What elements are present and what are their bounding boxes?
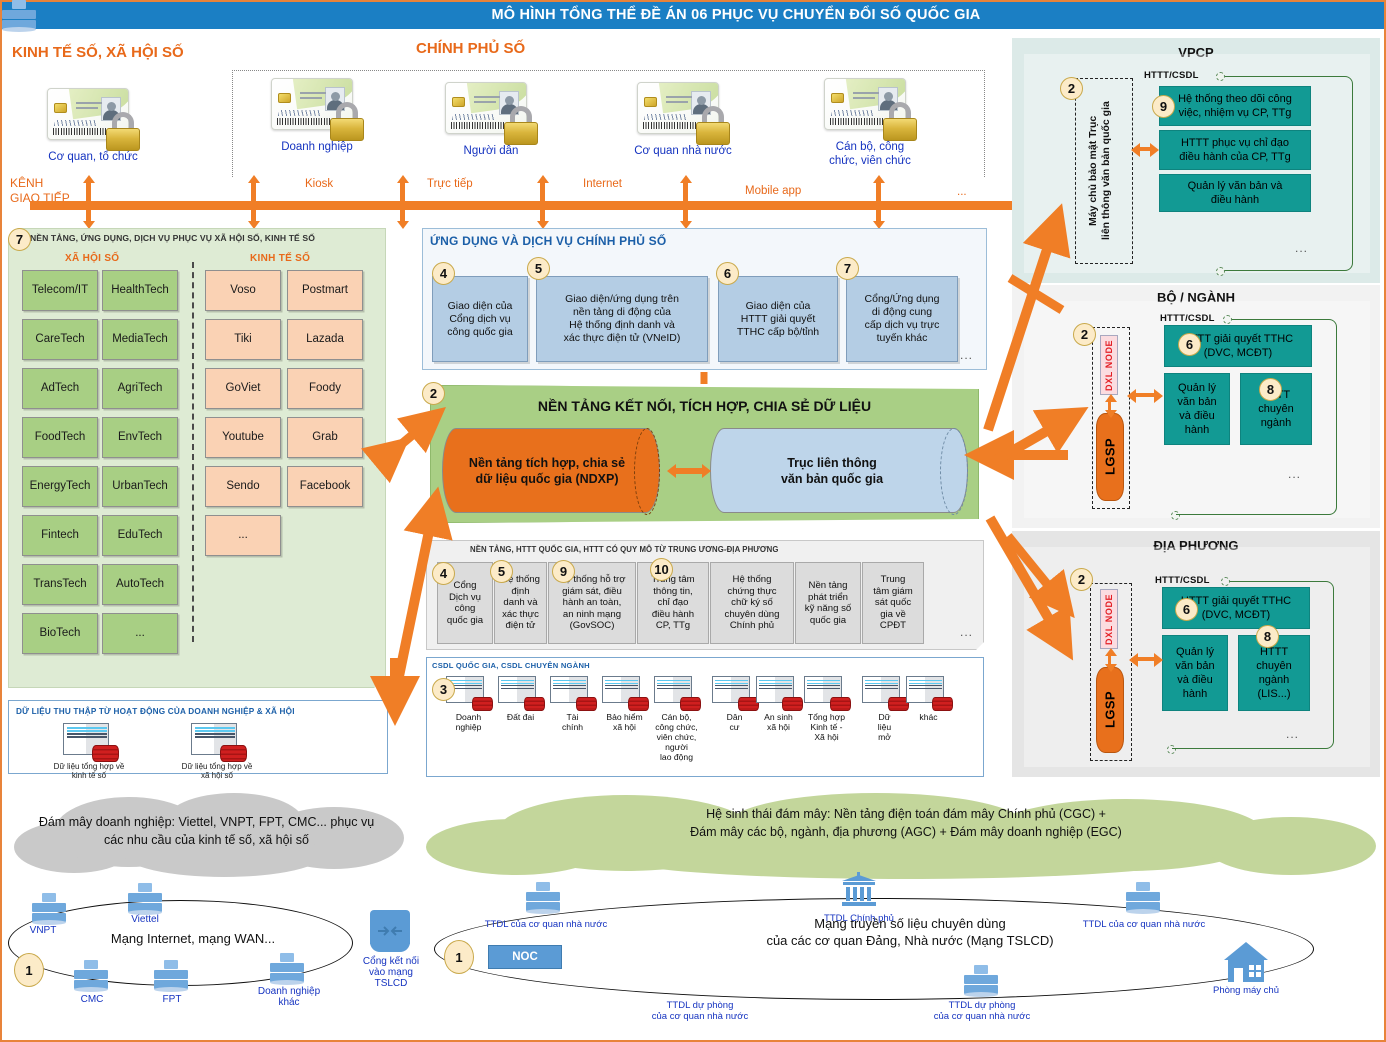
national-platforms-ellipsis: ... <box>960 625 973 639</box>
badge-7-left: 7 <box>8 228 31 251</box>
dia-phuong-path-bottom <box>1172 748 1229 750</box>
vpcp-httt-label: HTTT/CSDL <box>1144 70 1199 81</box>
economy-tech-box[interactable]: Lazada <box>287 319 363 360</box>
economy-tech-box[interactable]: Facebook <box>287 466 363 507</box>
channel-arrow-2 <box>251 182 256 222</box>
channel-arrow-1 <box>86 182 91 222</box>
actor-co-quan-to-chuc: Cơ quan, tổ chức <box>28 88 158 164</box>
badge-4-gov-app: 4 <box>432 262 455 285</box>
government-datacenter-icon <box>838 872 878 906</box>
actor-label: Cơ quan, tổ chức <box>28 150 158 164</box>
actor-label: Cán bộ, công chức, viên chức <box>800 140 940 168</box>
server-room-icon <box>1222 940 1268 980</box>
vpcp-ellipsis: ... <box>1295 241 1308 255</box>
dia-phuong-panel: ĐỊA PHƯƠNG HTTT/CSDL DXL NODE LGSP HTTT … <box>1012 531 1380 777</box>
channel-label-internet: Internet <box>583 178 622 190</box>
page-title: MÔ HÌNH TỔNG THỂ ĐỀ ÁN 06 PHỤC VỤ CHUYỂN… <box>88 2 1384 29</box>
vpcp-path-start-node <box>1216 72 1225 81</box>
social-tech-box[interactable]: BioTech <box>22 613 98 654</box>
csdl-item[interactable]: Bảo hiểm xã hội <box>598 676 651 732</box>
channel-arrow-3 <box>400 182 405 222</box>
national-platform-box[interactable]: Trung tâm giám sát quốc gia về CPĐT <box>862 562 924 644</box>
csdl-item-label: Cán bộ, công chức, viên chức, người lao … <box>650 712 703 762</box>
column-divider <box>192 262 194 642</box>
national-platform-box[interactable]: Hệ thống chứng thực chữ ký số chuyên dùn… <box>710 562 794 644</box>
ndxp-cylinder: Nền tảng tích hợp, chia sẻ dữ liệu quốc … <box>442 428 660 513</box>
dxl-node-bo-nganh: DXL NODE <box>1100 335 1118 395</box>
csdl-item[interactable]: Tổng hợp Kinh tế - Xã hội <box>800 676 853 742</box>
gov-app-box-5[interactable]: Giao diện/ứng dụng trên nền tảng di động… <box>536 276 708 362</box>
badge-2-bo-nganh: 2 <box>1073 323 1096 346</box>
bo-nganh-httt-label: HTTT/CSDL <box>1160 313 1215 324</box>
badge-9-vpcp: 9 <box>1152 95 1175 118</box>
data-item-kinh-te: Dữ liệu tổng hợp về kinh tế số <box>51 723 127 780</box>
vpcp-path-end-node <box>1216 267 1225 276</box>
channel-arrow-5 <box>683 182 688 222</box>
server-icon-agency-left <box>524 882 562 912</box>
economy-tech-box[interactable]: Postmart <box>287 270 363 311</box>
social-tech-box[interactable]: TransTech <box>22 564 98 605</box>
padlock-icon <box>105 112 141 152</box>
csdl-item-label: An sinh xã hội <box>752 712 805 732</box>
csdl-item[interactable]: Cán bộ, công chức, viên chức, người lao … <box>650 676 703 762</box>
csdl-item-label: Bảo hiểm xã hội <box>598 712 651 732</box>
vpcp-box-3: Quản lý văn bản và điều hành <box>1159 174 1311 212</box>
badge-3-csdl: 3 <box>432 678 455 701</box>
left-panel-col2-title: KINH TẾ SỐ <box>250 253 310 264</box>
database-sheet-icon <box>804 676 849 710</box>
left-network-node-other: Doanh nghiệp khác <box>240 986 338 1008</box>
actor-can-bo-cong-chuc: Cán bộ, công chức, viên chức <box>800 78 940 168</box>
right-network-label-agency-left: TTDL của cơ quan nhà nước <box>466 919 626 930</box>
tslcd-gateway-label: Cổng kết nối vào mạng TSLCD <box>352 956 430 989</box>
actor-doanh-nghiep: Doanh nghiệp <box>252 78 382 154</box>
id-card-icon <box>637 82 729 140</box>
actor-co-quan-nha-nuoc: Cơ quan nhà nước <box>608 82 758 158</box>
badge-6-dia-phuong: 6 <box>1175 598 1198 621</box>
channel-label-mobile-app: Mobile app <box>745 185 801 197</box>
bo-nganh-dxl-lgsp-arrow <box>1108 401 1111 411</box>
badge-8-bo-nganh: 8 <box>1259 378 1282 401</box>
right-network-label-agency-right: TTDL của cơ quan nhà nước <box>1064 919 1224 930</box>
badge-2-dia-phuong: 2 <box>1070 568 1093 591</box>
server-icon-backup-1 <box>0 0 38 30</box>
database-sheet-icon <box>862 676 907 710</box>
dia-phuong-httt-label: HTTT/CSDL <box>1155 575 1210 586</box>
economy-tech-box[interactable]: Grab <box>287 417 363 458</box>
left-panel-header: NỀN TẢNG, ỨNG DỤNG, DỊCH VỤ PHỤC VỤ XÃ H… <box>30 233 315 243</box>
database-sheet-icon <box>550 676 595 710</box>
social-tech-box[interactable]: UrbanTech <box>102 466 178 507</box>
actor-label: Người dân <box>426 144 556 158</box>
economy-tech-box[interactable]: Foody <box>287 368 363 409</box>
lgsp-dia-phuong: LGSP <box>1096 667 1124 753</box>
social-tech-box[interactable]: Telecom/IT <box>22 270 98 311</box>
padlock-icon <box>695 106 731 146</box>
actor-label: Cơ quan nhà nước <box>608 144 758 158</box>
economy-tech-box[interactable]: Tiki <box>205 319 281 360</box>
channel-arrow-6 <box>876 182 881 222</box>
bo-nganh-link-arrow <box>1136 393 1154 397</box>
noc-box: NOC <box>488 945 562 969</box>
government-cloud-text: Hệ sinh thái đám mây: Nền tảng điện toán… <box>436 805 1376 841</box>
economy-tech-box[interactable]: Sendo <box>205 466 281 507</box>
server-icon-doanh-nghiep-khac <box>268 953 306 983</box>
badge-8-dia-phuong: 8 <box>1256 625 1279 648</box>
id-card-icon <box>445 82 537 140</box>
channel-label-truc-tiep: Trực tiếp <box>427 178 473 190</box>
server-icon-viettel <box>126 883 164 913</box>
dia-phuong-box-bottom-right: HTTT chuyên ngành (LIS...) <box>1238 635 1310 711</box>
csdl-item[interactable]: Tài chính <box>546 676 599 732</box>
vpcp-box-2: HTTT phục vụ chỉ đạo điều hành của CP, T… <box>1159 130 1311 170</box>
badge-7-gov-app: 7 <box>836 257 859 280</box>
social-tech-box[interactable]: AgriTech <box>102 368 178 409</box>
badge-6-bo-nganh: 6 <box>1178 333 1201 356</box>
dia-phuong-link-arrow <box>1138 657 1154 661</box>
csdl-item-label: Tổng hợp Kinh tế - Xã hội <box>800 712 853 742</box>
channel-title-line1: KÊNH <box>10 176 43 191</box>
national-platform-box[interactable]: Nền tảng phát triển kỹ năng số quốc gia <box>795 562 861 644</box>
left-network-node-viettel: Viettel <box>110 914 180 925</box>
badge-6-gov-app: 6 <box>716 262 739 285</box>
dia-phuong-path-start-node <box>1221 577 1230 586</box>
enterprise-cloud-text: Đám mây doanh nghiệp: Viettel, VNPT, FPT… <box>14 813 399 849</box>
server-icon-agency-right <box>1124 882 1162 912</box>
badge-2-platform: 2 <box>422 382 445 405</box>
vpcp-panel: VPCP HTTT/CSDL Máy chủ bảo mật Trục liên… <box>1012 38 1380 283</box>
right-network-label-gov-dc: TTDL Chính phủ <box>800 913 918 924</box>
vpcp-box-1: Hệ thống theo dõi công việc, nhiệm vụ CP… <box>1159 86 1311 126</box>
gov-app-box-6[interactable]: Giao diện của HTTT giải quyết TTHC cấp b… <box>718 276 838 362</box>
server-icon-vnpt <box>30 893 68 923</box>
padlock-icon <box>329 102 365 142</box>
cylinder-link-arrow <box>676 468 702 474</box>
id-card-icon <box>271 78 363 136</box>
dia-phuong-dxl-lgsp-arrow <box>1108 655 1111 665</box>
tslcd-gateway-icon <box>370 910 410 952</box>
gov-app-box-7[interactable]: Cổng/Ứng dụng di động cung cấp dịch vụ t… <box>846 276 958 362</box>
badge-5-national-platform: 5 <box>490 560 513 583</box>
economy-tech-box[interactable]: Voso <box>205 270 281 311</box>
csdl-item-label: Đất đai <box>494 712 547 722</box>
channel-label-kiosk: Kiosk <box>305 178 333 190</box>
bo-nganh-box-bottom-left: Quản lý văn bản và điều hành <box>1164 373 1230 445</box>
actor-label-text: Cơ quan nhà nước <box>634 145 732 157</box>
database-sheet-icon <box>498 676 543 710</box>
server-room-label: Phòng máy chủ <box>1196 985 1296 996</box>
csdl-item[interactable]: Đất đai <box>494 676 547 722</box>
csdl-item[interactable]: khác <box>902 676 955 722</box>
badge-1-right-network: 1 <box>444 940 474 974</box>
server-icon-fpt <box>152 960 190 990</box>
bo-nganh-panel: BỘ / NGÀNH HTTT/CSDL DXL NODE LGSP HTTT … <box>1012 285 1380 528</box>
data-item-caption: Dữ liệu tổng hợp về kinh tế số <box>51 762 127 780</box>
bo-nganh-ellipsis: ... <box>1288 467 1301 481</box>
integration-platform-title: NỀN TẢNG KẾT NỐI, TÍCH HỢP, CHIA SẺ DỮ L… <box>430 398 979 414</box>
data-item-xa-hoi: Dữ liệu tổng hợp về xã hội số <box>177 723 257 780</box>
dia-phuong-ellipsis: ... <box>1286 727 1299 741</box>
id-card-icon <box>47 88 139 146</box>
left-network-center-label: Mạng Internet, mạng WAN... <box>78 930 308 947</box>
left-network-node-fpt: FPT <box>140 994 204 1005</box>
right-network-label-backup-1: TTDL dự phòng của cơ quan nhà nước <box>620 1000 780 1022</box>
bo-nganh-path-bottom <box>1176 514 1231 516</box>
social-tech-box[interactable]: FoodTech <box>22 417 98 458</box>
database-sheet-icon <box>712 676 757 710</box>
csdl-item-label: Doanh nghiệp <box>442 712 495 732</box>
left-section-caption: KINH TẾ SỐ, XÃ HỘI SỐ <box>12 44 184 61</box>
badge-5-gov-app: 5 <box>527 257 550 280</box>
dxl-node-dia-phuong: DXL NODE <box>1100 589 1118 649</box>
database-sheet-icon <box>756 676 801 710</box>
economy-tech-box[interactable]: GoViet <box>205 368 281 409</box>
social-tech-box[interactable]: ... <box>102 613 178 654</box>
national-platforms-header: NỀN TẢNG, HTTT QUỐC GIA, HTTT CÓ QUY MÔ … <box>470 545 779 554</box>
left-panel-col1-title: XÃ HỘI SỐ <box>65 253 119 264</box>
left-network-node-cmc: CMC <box>60 994 124 1005</box>
gov-apps-header: ỨNG DỤNG VÀ DỊCH VỤ CHÍNH PHỦ SỐ <box>430 234 666 248</box>
csdl-header: CSDL QUỐC GIA, CSDL CHUYÊN NGÀNH <box>432 661 590 670</box>
social-tech-box[interactable]: EnergyTech <box>22 466 98 507</box>
social-tech-box[interactable]: Fintech <box>22 515 98 556</box>
social-tech-box[interactable]: AutoTech <box>102 564 178 605</box>
gov-app-box-4[interactable]: Giao diện của Cổng dịch vụ công quốc gia <box>432 276 528 362</box>
data-item-caption: Dữ liệu tổng hợp về xã hội số <box>177 762 257 780</box>
database-sheet-icon <box>602 676 647 710</box>
database-sheet-icon <box>191 723 243 761</box>
vpcp-link-arrow <box>1140 147 1150 151</box>
social-tech-box[interactable]: HealthTech <box>102 270 178 311</box>
data-panel-header: DỮ LIỆU THU THẬP TỪ HOẠT ĐỘNG CỦA DOANH … <box>16 707 295 716</box>
economy-tech-box[interactable]: ... <box>205 515 281 556</box>
social-tech-box[interactable]: CareTech <box>22 319 98 360</box>
badge-2-vpcp: 2 <box>1060 77 1083 100</box>
center-section-caption: CHÍNH PHỦ SỐ <box>416 40 525 57</box>
database-sheet-icon <box>654 676 699 710</box>
economy-tech-box[interactable]: Youtube <box>205 417 281 458</box>
database-sheet-icon <box>63 723 115 761</box>
gov-apps-ellipsis: ... <box>960 348 973 362</box>
bo-nganh-path-start-node <box>1223 315 1232 324</box>
social-tech-box[interactable]: AdTech <box>22 368 98 409</box>
id-card-icon <box>824 78 916 136</box>
channel-bar <box>30 201 1182 210</box>
csdl-item-label: Tài chính <box>546 712 599 732</box>
badge-4-national-platform: 4 <box>432 562 455 585</box>
national-platform-box[interactable]: Trung tâm thông tin, chỉ đạo điều hành C… <box>637 562 709 644</box>
badge-1-left-network: 1 <box>14 953 44 987</box>
left-network-node-vnpt: VNPT <box>8 925 78 936</box>
social-tech-box[interactable]: EduTech <box>102 515 178 556</box>
badge-9-national-platform: 9 <box>552 560 575 583</box>
truc-lien-thong-cylinder: Trục liên thông văn bản quốc gia <box>710 428 968 513</box>
csdl-item[interactable]: An sinh xã hội <box>752 676 805 732</box>
database-sheet-icon <box>906 676 951 710</box>
dia-phuong-box-bottom-left: Quản lý văn bản và điều hành <box>1162 635 1228 711</box>
server-icon-backup-2 <box>962 965 1000 995</box>
actor-label: Doanh nghiệp <box>252 140 382 154</box>
padlock-icon <box>882 102 918 142</box>
padlock-icon <box>503 106 539 146</box>
right-network-label-backup-2: TTDL dự phòng của cơ quan nhà nước <box>902 1000 1062 1022</box>
social-tech-box[interactable]: MediaTech <box>102 319 178 360</box>
data-collection-panel: DỮ LIỆU THU THẬP TỪ HOẠT ĐỘNG CỦA DOANH … <box>8 700 388 774</box>
server-icon-cmc <box>72 960 110 990</box>
csdl-item-label: khác <box>902 712 955 722</box>
channel-ellipsis: ... <box>957 186 967 198</box>
actor-nguoi-dan: Người dân <box>426 82 556 158</box>
lgsp-bo-nganh: LGSP <box>1096 413 1124 501</box>
vpcp-vertical-label: Máy chủ bảo mật Trục liên thông văn bản … <box>1087 90 1121 252</box>
social-tech-box[interactable]: EnvTech <box>102 417 178 458</box>
badge-10-national-platform: 10 <box>650 558 673 581</box>
channel-arrow-4 <box>540 182 545 222</box>
